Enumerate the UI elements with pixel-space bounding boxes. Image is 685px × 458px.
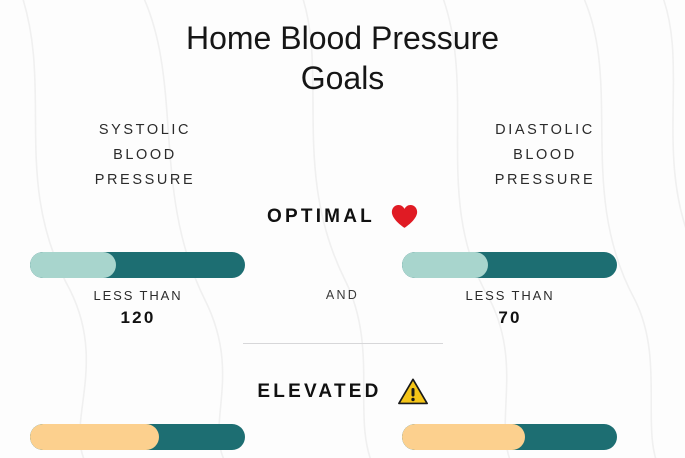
- page-title-line-1: Home Blood Pressure: [0, 18, 685, 58]
- bar-systolic-optimal: [30, 252, 245, 278]
- bar-fill-systolic-elevated: [30, 424, 159, 450]
- column-header-diastolic-line-2: BLOOD: [420, 143, 670, 168]
- column-header-systolic-line-1: SYSTOLIC: [20, 118, 270, 143]
- heart-icon: [391, 204, 418, 229]
- page-title: Home Blood Pressure Goals: [0, 18, 685, 98]
- category-row-elevated: ELEVATED: [0, 378, 685, 405]
- column-header-systolic-line-3: PRESSURE: [20, 168, 270, 193]
- value-qualifier-systolic-optimal: LESS THAN: [13, 287, 263, 305]
- column-header-diastolic-line-1: DIASTOLIC: [420, 118, 670, 143]
- category-label-optimal: OPTIMAL: [267, 206, 375, 228]
- value-number-systolic-optimal: 120: [13, 307, 263, 329]
- category-row-optimal: OPTIMAL: [0, 204, 685, 229]
- conjunction-label: AND: [255, 288, 430, 302]
- value-number-diastolic-optimal: 70: [385, 307, 635, 329]
- warning-triangle-icon: [398, 378, 428, 405]
- infographic-canvas: Home Blood Pressure Goals SYSTOLIC BLOOD…: [0, 0, 685, 458]
- column-header-systolic-line-2: BLOOD: [20, 143, 270, 168]
- bar-diastolic-elevated: [402, 424, 617, 450]
- value-systolic-optimal: LESS THAN 120: [13, 287, 263, 329]
- section-divider: [243, 343, 443, 344]
- page-title-line-2: Goals: [0, 58, 685, 98]
- bar-systolic-elevated: [30, 424, 245, 450]
- category-label-elevated: ELEVATED: [257, 381, 381, 403]
- bar-diastolic-optimal: [402, 252, 617, 278]
- bar-fill-diastolic-optimal: [402, 252, 488, 278]
- column-header-diastolic-line-3: PRESSURE: [420, 168, 670, 193]
- column-header-systolic: SYSTOLIC BLOOD PRESSURE: [20, 118, 270, 193]
- bar-fill-systolic-optimal: [30, 252, 116, 278]
- bar-fill-diastolic-elevated: [402, 424, 525, 450]
- column-header-diastolic: DIASTOLIC BLOOD PRESSURE: [420, 118, 670, 193]
